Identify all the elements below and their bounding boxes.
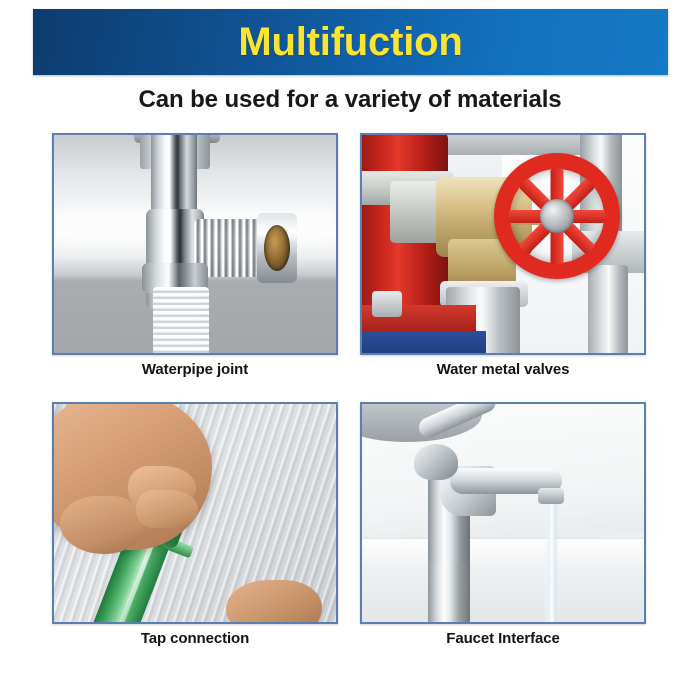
feature-grid: Waterpipe joint xyxy=(0,0,700,700)
infographic-page: Multifuction Can be used for a variety o… xyxy=(0,0,700,700)
middle-finger xyxy=(136,490,198,528)
caption-waterpipe-joint: Waterpipe joint xyxy=(32,361,358,378)
scene-basin-faucet xyxy=(362,404,644,622)
photo-tap-connection xyxy=(52,402,338,624)
faucet-aerator xyxy=(538,488,564,504)
scene-chrome-angle-valve xyxy=(54,135,336,353)
feature-cell-tap-connection: Tap connection xyxy=(52,402,338,624)
feature-cell-waterpipe-joint: Waterpipe joint xyxy=(52,133,338,355)
right-lower-pipe xyxy=(588,265,628,353)
handwheel-hub-nut xyxy=(540,199,574,233)
faucet-lever-pivot xyxy=(414,444,458,480)
hydrant-base-blue xyxy=(362,331,486,353)
white-threaded-pipe xyxy=(153,287,209,353)
photo-faucet-interface xyxy=(360,402,646,624)
second-hand xyxy=(226,580,322,622)
caption-faucet-interface: Faucet Interface xyxy=(340,630,666,647)
photo-water-metal-valves xyxy=(360,133,646,355)
thumb xyxy=(60,496,144,554)
feature-cell-faucet-interface: Faucet Interface xyxy=(360,402,646,624)
photo-waterpipe-joint xyxy=(52,133,338,355)
caption-water-metal-valves: Water metal valves xyxy=(340,361,666,378)
scene-hand-green-pipe xyxy=(54,404,336,622)
overhead-pipe xyxy=(444,135,594,155)
feature-cell-water-metal-valves: Water metal valves xyxy=(360,133,646,355)
red-handwheel xyxy=(494,153,620,279)
scene-hydrant-valve xyxy=(362,135,644,353)
water-stream xyxy=(544,500,559,622)
anchor-bolt xyxy=(372,291,402,317)
brass-bore xyxy=(264,225,290,271)
caption-tap-connection: Tap connection xyxy=(32,630,358,647)
countertop xyxy=(362,539,644,622)
